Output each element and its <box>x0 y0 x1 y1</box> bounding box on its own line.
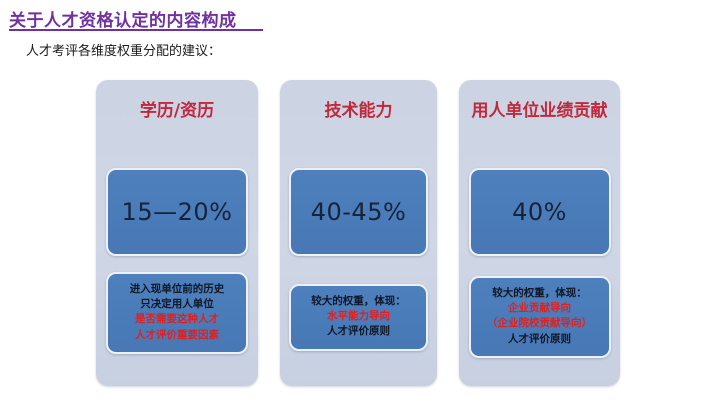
weight-card-technical-ability[interactable]: 技术能力 40-45% 较大的权重，体现： 水平能力导向 人才评价原则 <box>280 80 437 386</box>
detail-line: 进入现单位前的历史 <box>112 282 242 297</box>
detail-line: 较大的权重，体现： <box>475 286 605 301</box>
percent-box-technical-ability: 40-45% <box>289 168 428 256</box>
card-heading-employer-contribution: 用人单位业绩贡献 <box>468 94 611 168</box>
percent-value-education: 15—20% <box>122 198 233 226</box>
page-subtitle: 人才考评各维度权重分配的建议： <box>26 40 221 59</box>
percent-value-employer-contribution: 40% <box>512 198 567 226</box>
detail-line: 人才评价重要因素 <box>112 328 242 343</box>
detail-line: 较大的权重，体现： <box>295 294 422 309</box>
detail-line: 是否需要这种人才 <box>112 312 242 327</box>
detail-box-technical-ability: 较大的权重，体现： 水平能力导向 人才评价原则 <box>289 284 428 351</box>
detail-line: （企业院校贡献导向） <box>475 316 605 331</box>
title-underline <box>9 29 263 31</box>
detail-line: 人才评价原则 <box>475 332 605 347</box>
detail-box-education: 进入现单位前的历史 只决定用人单位 是否需要这种人才 人才评价重要因素 <box>106 272 248 354</box>
weight-card-employer-contribution[interactable]: 用人单位业绩贡献 40% 较大的权重，体现： 企业贡献导向 （企业院校贡献导向）… <box>459 80 620 386</box>
detail-line: 只决定用人单位 <box>112 297 242 312</box>
percent-box-employer-contribution: 40% <box>469 168 611 256</box>
card-heading-technical-ability: 技术能力 <box>289 94 428 168</box>
detail-line: 人才评价原则 <box>295 324 422 339</box>
detail-box-employer-contribution: 较大的权重，体现： 企业贡献导向 （企业院校贡献导向） 人才评价原则 <box>469 276 611 358</box>
detail-line: 企业贡献导向 <box>475 301 605 316</box>
card-heading-education: 学历/资历 <box>105 94 249 168</box>
weight-columns-container: 学历/资历 15—20% 进入现单位前的历史 只决定用人单位 是否需要这种人才 … <box>96 80 620 386</box>
percent-box-education: 15—20% <box>106 168 248 256</box>
detail-line: 水平能力导向 <box>295 309 422 324</box>
percent-value-technical-ability: 40-45% <box>311 198 407 226</box>
page-title: 关于人才资格认定的内容构成 <box>9 6 237 31</box>
slide-canvas: 关于人才资格认定的内容构成 人才考评各维度权重分配的建议： 学历/资历 15—2… <box>0 0 720 406</box>
weight-card-education[interactable]: 学历/资历 15—20% 进入现单位前的历史 只决定用人单位 是否需要这种人才 … <box>96 80 258 386</box>
